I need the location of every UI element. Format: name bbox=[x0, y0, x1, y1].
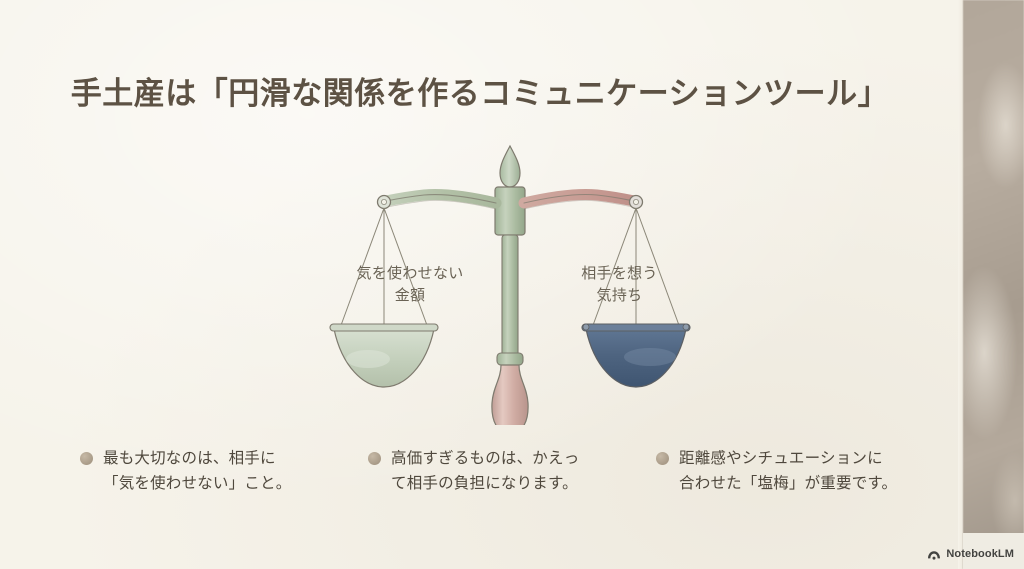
scale-arm-tip-ring-left bbox=[378, 196, 391, 209]
left-pan-label-line1: 気を使わせない bbox=[356, 265, 463, 282]
list-item: 高価すぎるものは、かえっ て相手の負担になります。 bbox=[368, 446, 656, 496]
right-blurred-photo-strip bbox=[963, 0, 1024, 569]
note-line1: 高価すぎるものは、かえっ bbox=[391, 446, 579, 471]
list-item: 距離感やシチュエーションに 合わせた「塩梅」が重要です。 bbox=[656, 446, 944, 496]
page-title: 手土産は「円滑な関係を作るコミュニケーションツール」 bbox=[0, 68, 960, 113]
note-text: 距離感やシチュエーションに 合わせた「塩梅」が重要です。 bbox=[679, 446, 897, 496]
right-pan-label-line1: 相手を想う bbox=[581, 265, 658, 282]
notebooklm-logo-icon bbox=[927, 548, 941, 560]
bullet-dot-icon bbox=[656, 452, 669, 465]
left-pan-label: 気を使わせない 金額 bbox=[330, 263, 490, 307]
note-line2: て相手の負担になります。 bbox=[391, 471, 579, 496]
scale-fulcrum-collar bbox=[495, 187, 525, 235]
scale-arm-tip-ring-right bbox=[630, 196, 643, 209]
note-text: 最も大切なのは、相手に 「気を使わせない」こと。 bbox=[103, 446, 291, 496]
slide-canvas: 手土産は「円滑な関係を作るコミュニケーションツール」 bbox=[0, 0, 1024, 569]
watermark-label: NotebookLM bbox=[946, 548, 1014, 560]
list-item: 最も大切なのは、相手に 「気を使わせない」こと。 bbox=[80, 446, 368, 496]
note-line2: 合わせた「塩梅」が重要です。 bbox=[679, 471, 897, 496]
scale-beam-right bbox=[524, 194, 634, 209]
note-line1: 最も大切なのは、相手に bbox=[103, 446, 291, 471]
scale-finial bbox=[500, 146, 520, 187]
bullet-dot-icon bbox=[80, 452, 93, 465]
bullet-dot-icon bbox=[368, 452, 381, 465]
note-line1: 距離感やシチュエーションに bbox=[679, 446, 897, 471]
note-text: 高価すぎるものは、かえっ て相手の負担になります。 bbox=[391, 446, 579, 496]
right-pan-label-line2: 気持ち bbox=[597, 287, 643, 304]
scale-column bbox=[490, 365, 530, 425]
left-pan-label-line2: 金額 bbox=[395, 287, 426, 304]
scale-pan-right bbox=[582, 324, 690, 387]
notebooklm-watermark: NotebookLM bbox=[927, 548, 1014, 560]
scale-pan-left bbox=[330, 324, 438, 387]
note-line2: 「気を使わせない」こと。 bbox=[103, 471, 291, 496]
scale-beam-left bbox=[386, 194, 496, 209]
notes-row: 最も大切なのは、相手に 「気を使わせない」こと。 高価すぎるものは、かえっ て相… bbox=[80, 446, 950, 496]
right-pan-label: 相手を想う 気持ち bbox=[552, 263, 687, 307]
scale-upper-stem bbox=[497, 235, 523, 365]
